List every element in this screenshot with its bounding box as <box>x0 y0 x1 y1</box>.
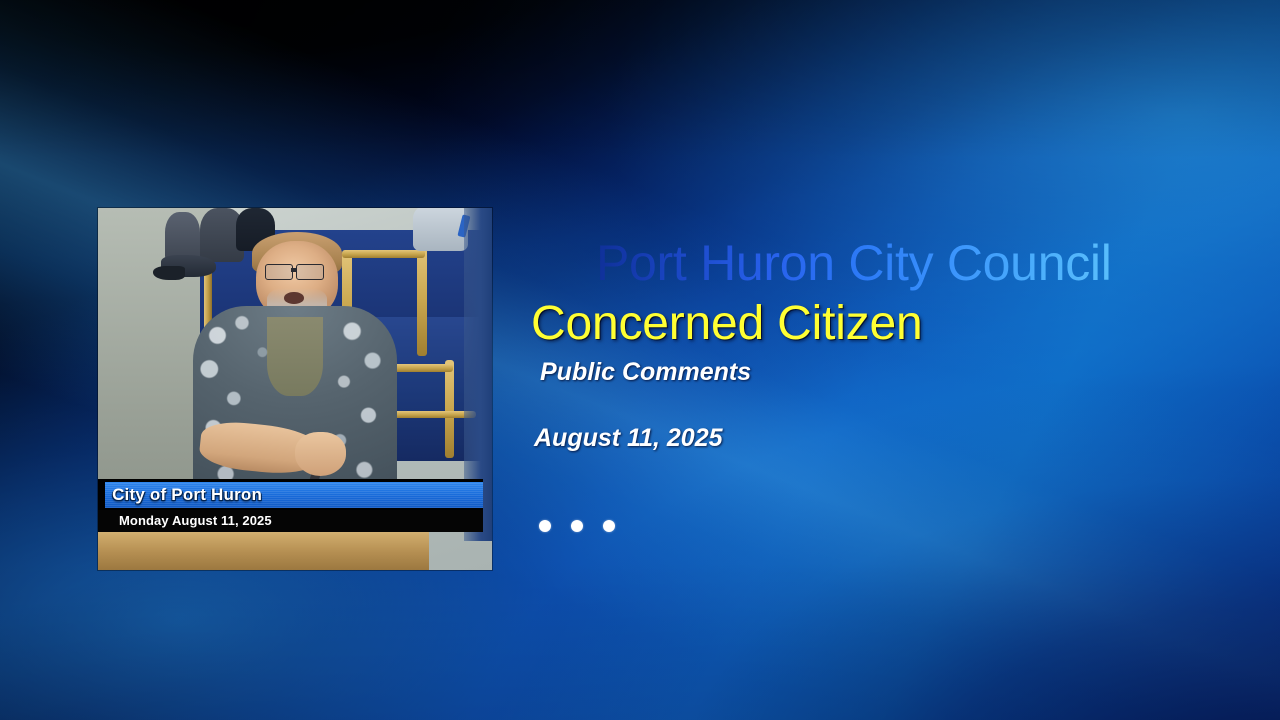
lower-third-subtitle-band: Monday August 11, 2025 <box>98 510 483 532</box>
subtitle: Public Comments <box>540 358 751 387</box>
organization-title: Port Huron City Council <box>596 234 1112 292</box>
meeting-date: August 11, 2025 <box>534 424 723 453</box>
glasses-bridge <box>291 268 297 272</box>
video-thumbnail[interactable]: City of Port Huron Monday August 11, 202… <box>98 208 492 570</box>
lower-third-title-band: City of Port Huron <box>105 479 483 510</box>
speaker-hand <box>295 432 346 475</box>
ellipsis-dot <box>603 520 615 532</box>
chair-frame-post <box>445 360 454 458</box>
video-title-card: City of Port Huron Monday August 11, 202… <box>0 0 1280 720</box>
lower-third-graphic: City of Port Huron Monday August 11, 202… <box>98 479 492 532</box>
ellipsis-dot <box>571 520 583 532</box>
chair-frame-rail <box>342 250 425 258</box>
lower-third-subtitle: Monday August 11, 2025 <box>98 513 272 528</box>
speaker-mouth <box>284 292 304 304</box>
page-title: Concerned Citizen <box>531 296 922 351</box>
glasses-lens-right <box>296 264 324 280</box>
shoe <box>153 266 185 280</box>
ellipsis-dot <box>539 520 551 532</box>
chair-frame-post <box>417 244 426 356</box>
glasses-lens-left <box>265 264 293 280</box>
lower-third-title: City of Port Huron <box>105 485 262 505</box>
ellipsis-dots <box>539 520 615 532</box>
